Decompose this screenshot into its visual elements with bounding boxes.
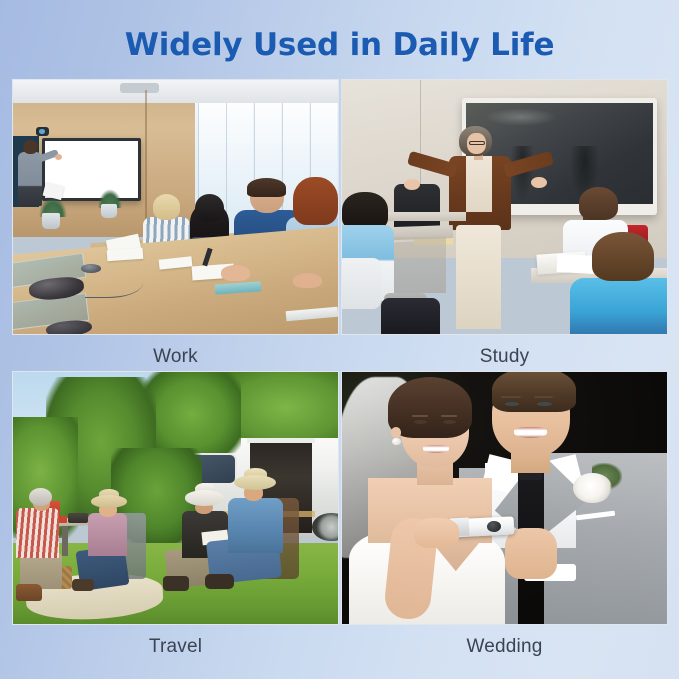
scenario-card-travel[interactable]: Travel [12, 371, 339, 659]
scenario-image-work [12, 79, 339, 335]
scenario-image-travel [12, 371, 339, 625]
scenario-card-work[interactable]: Work [12, 79, 339, 371]
study-scene [342, 80, 667, 334]
conference-puck-mic [81, 264, 101, 273]
page-title: Widely Used in Daily Life [0, 26, 679, 64]
scenario-card-study[interactable]: Study [341, 79, 668, 371]
scenario-image-wedding [341, 371, 668, 625]
boutonniere [573, 473, 612, 503]
work-scene [13, 80, 338, 334]
scenario-label-work: Work [153, 345, 198, 369]
usage-scenario-grid: Work [12, 79, 668, 659]
travel-scene [13, 372, 338, 624]
scenario-image-study [341, 79, 668, 335]
scenario-label-wedding: Wedding [466, 635, 542, 659]
wedding-scene [342, 372, 667, 624]
eyeglasses-icon [469, 141, 485, 145]
scenario-label-travel: Travel [149, 635, 202, 659]
scenario-card-wedding[interactable]: Wedding [341, 371, 668, 659]
scenario-label-study: Study [480, 345, 530, 369]
